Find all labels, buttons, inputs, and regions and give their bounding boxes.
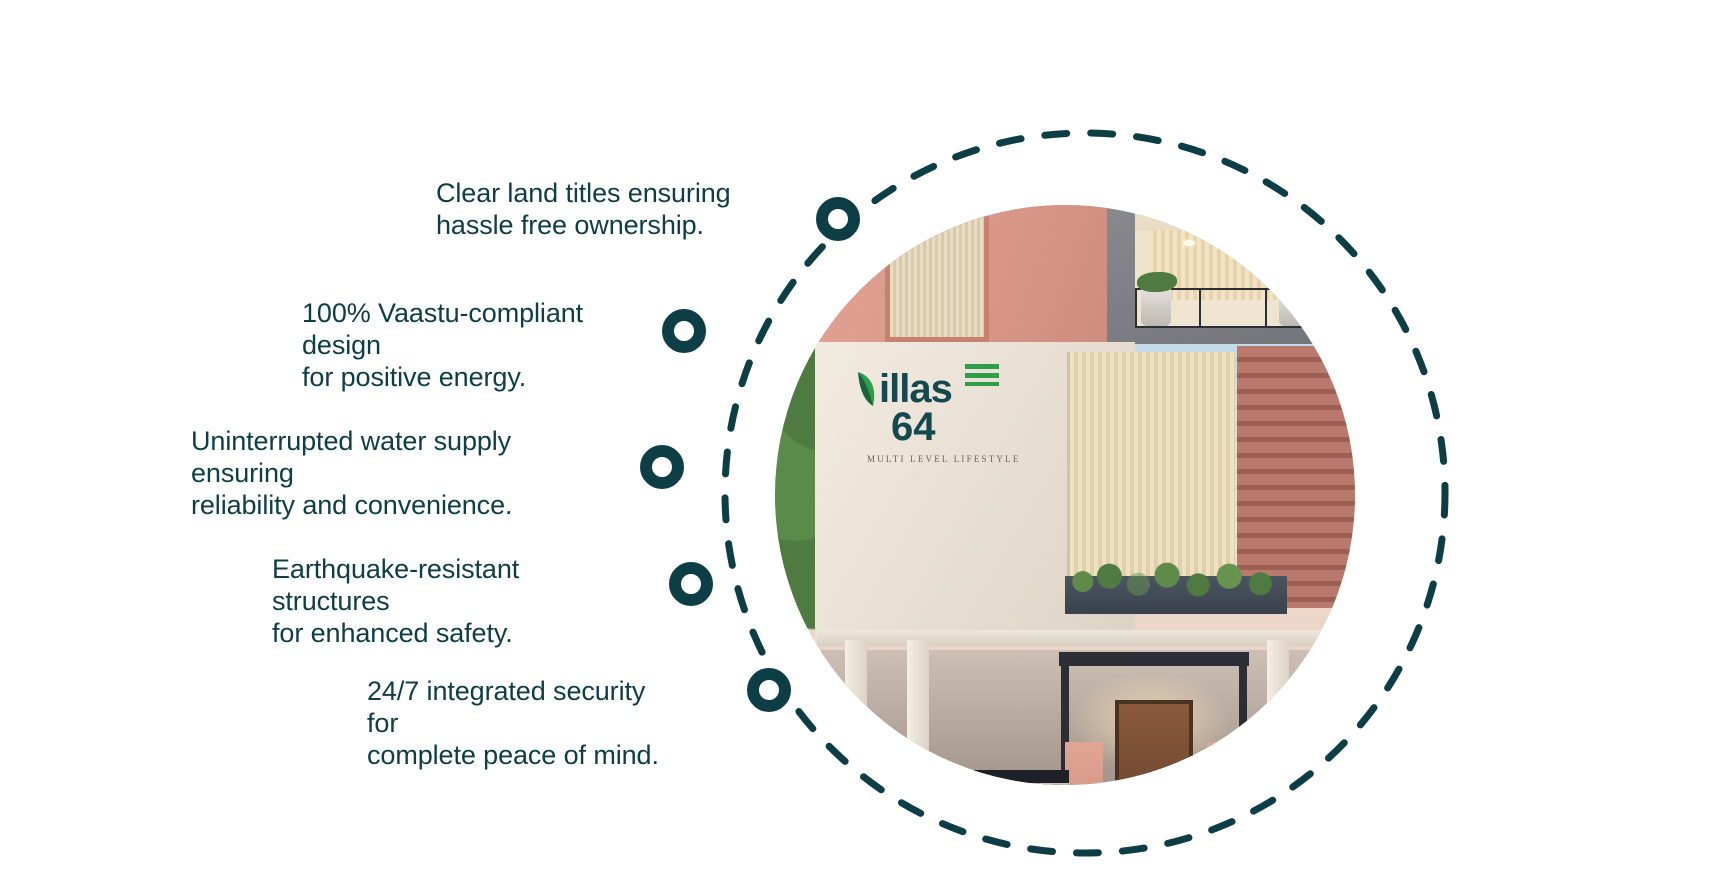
orbit-marker-1[interactable] (816, 197, 860, 241)
orbit-marker-4[interactable] (669, 562, 713, 606)
orbit-marker-5[interactable] (747, 668, 791, 712)
orbit-marker-2[interactable] (662, 309, 706, 353)
orbit-marker-3[interactable] (640, 445, 684, 489)
orbit-markers (0, 0, 1718, 876)
promo-graphic: Clear land titles ensuring hassle free o… (0, 0, 1718, 876)
